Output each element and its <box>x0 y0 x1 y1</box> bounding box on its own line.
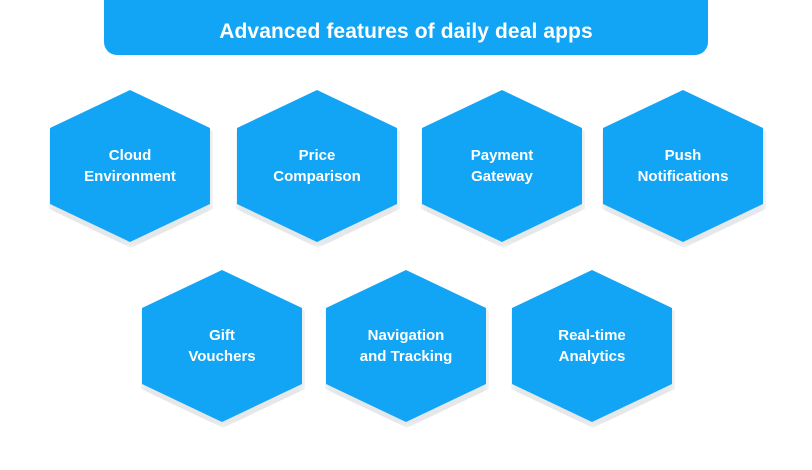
feature-hexagon-payment-gateway[interactable]: Payment Gateway <box>422 90 582 242</box>
feature-label: Cloud Environment <box>76 145 184 188</box>
header-banner: Advanced features of daily deal apps <box>104 0 708 55</box>
feature-label: Push Notifications <box>630 145 737 188</box>
feature-label: Price Comparison <box>265 145 369 188</box>
feature-hexagon-gift-vouchers[interactable]: Gift Vouchers <box>142 270 302 422</box>
feature-label: Navigation and Tracking <box>352 325 461 368</box>
feature-hexagon-price-comparison[interactable]: Price Comparison <box>237 90 397 242</box>
feature-hexagon-push-notifications[interactable]: Push Notifications <box>603 90 763 242</box>
feature-hexagon-navigation-and-tracking[interactable]: Navigation and Tracking <box>326 270 486 422</box>
page-title: Advanced features of daily deal apps <box>219 20 593 43</box>
feature-hexagon-real-time-analytics[interactable]: Real-time Analytics <box>512 270 672 422</box>
feature-label: Payment Gateway <box>463 145 542 188</box>
feature-hexagon-cloud-environment[interactable]: Cloud Environment <box>50 90 210 242</box>
feature-label: Gift Vouchers <box>180 325 263 368</box>
infographic-canvas: Advanced features of daily deal apps Clo… <box>0 0 812 470</box>
feature-label: Real-time Analytics <box>550 325 634 368</box>
